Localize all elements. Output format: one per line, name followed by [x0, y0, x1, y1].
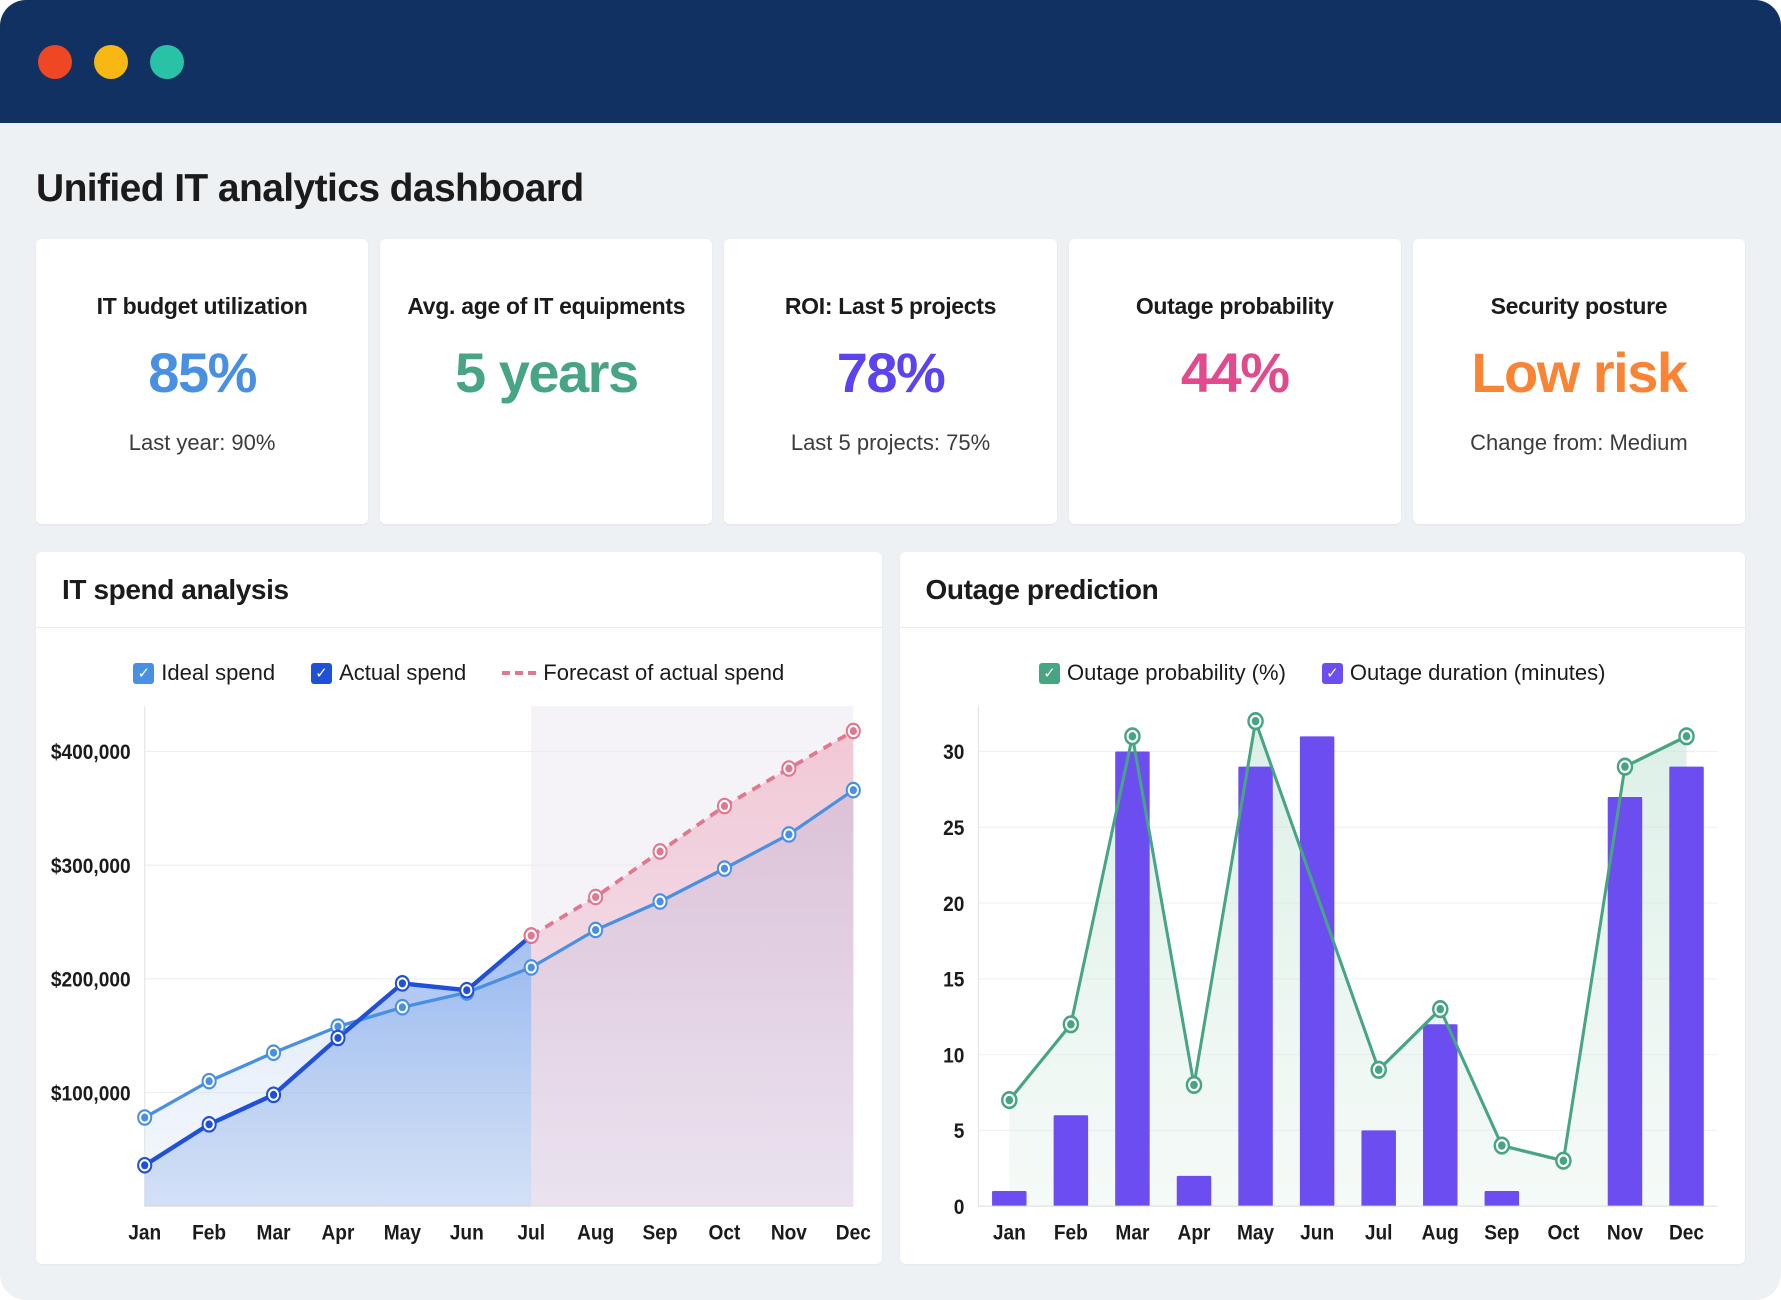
dashed-line-icon: [502, 671, 536, 675]
kpi-title: Avg. age of IT equipments: [390, 293, 702, 320]
svg-text:10: 10: [943, 1045, 964, 1068]
kpi-title: Outage probability: [1079, 293, 1391, 320]
legend-item-outage-duration[interactable]: ✓ Outage duration (minutes): [1322, 660, 1606, 686]
svg-text:$100,000: $100,000: [51, 1082, 131, 1105]
svg-text:Nov: Nov: [771, 1222, 808, 1245]
svg-text:25: 25: [943, 817, 964, 840]
checkbox-icon[interactable]: ✓: [1322, 663, 1343, 684]
legend-label: Ideal spend: [161, 660, 275, 686]
svg-text:Oct: Oct: [1547, 1222, 1579, 1245]
it-spend-plot[interactable]: $100,000$200,000$300,000$400,000JanFebMa…: [36, 686, 882, 1264]
dashboard-body: Unified IT analytics dashboard IT budget…: [0, 123, 1781, 1264]
kpi-value: 85%: [46, 342, 358, 404]
legend-item-actual-spend[interactable]: ✓ Actual spend: [311, 660, 466, 686]
maximize-button[interactable]: [150, 45, 184, 79]
legend-item-ideal-spend[interactable]: ✓ Ideal spend: [133, 660, 275, 686]
svg-text:$300,000: $300,000: [51, 855, 131, 878]
kpi-card-equipment-age[interactable]: Avg. age of IT equipments 5 years: [380, 239, 712, 524]
kpi-title: Security posture: [1423, 293, 1735, 320]
chart-header: Outage prediction: [900, 552, 1746, 628]
kpi-card-security-posture[interactable]: Security posture Low risk Change from: M…: [1413, 239, 1745, 524]
svg-text:Nov: Nov: [1606, 1222, 1643, 1245]
checkbox-icon[interactable]: ✓: [1039, 663, 1060, 684]
kpi-subtext: Last 5 projects: 75%: [734, 430, 1046, 456]
svg-text:May: May: [1236, 1222, 1274, 1245]
svg-text:Jul: Jul: [517, 1222, 545, 1245]
svg-text:Jun: Jun: [1300, 1222, 1334, 1245]
page-title: Unified IT analytics dashboard: [36, 167, 1745, 211]
spend-legend: ✓ Ideal spend ✓ Actual spend Forecast of…: [36, 628, 882, 686]
svg-text:Oct: Oct: [709, 1222, 741, 1245]
svg-text:Apr: Apr: [322, 1222, 355, 1245]
legend-label: Actual spend: [339, 660, 466, 686]
kpi-value: 44%: [1079, 342, 1391, 404]
kpi-value: 5 years: [390, 342, 702, 404]
chart-card-it-spend: IT spend analysis ✓ Ideal spend ✓ Actual…: [36, 552, 882, 1264]
svg-text:Sep: Sep: [643, 1222, 678, 1245]
svg-text:20: 20: [943, 893, 964, 916]
svg-text:0: 0: [953, 1196, 964, 1219]
chart-card-outage-prediction: Outage prediction ✓ Outage probability (…: [900, 552, 1746, 1264]
svg-text:Jun: Jun: [450, 1222, 484, 1245]
minimize-button[interactable]: [94, 45, 128, 79]
svg-text:Dec: Dec: [836, 1222, 871, 1245]
kpi-row: IT budget utilization 85% Last year: 90%…: [36, 239, 1745, 524]
outage-legend: ✓ Outage probability (%) ✓ Outage durati…: [900, 628, 1746, 686]
chart-header: IT spend analysis: [36, 552, 882, 628]
svg-text:Jul: Jul: [1364, 1222, 1392, 1245]
svg-text:30: 30: [943, 741, 964, 764]
chart-title: IT spend analysis: [62, 574, 289, 606]
chart-row: IT spend analysis ✓ Ideal spend ✓ Actual…: [36, 552, 1745, 1264]
legend-item-forecast[interactable]: Forecast of actual spend: [502, 660, 784, 686]
kpi-value: Low risk: [1423, 342, 1735, 404]
kpi-card-outage-probability[interactable]: Outage probability 44%: [1069, 239, 1401, 524]
legend-item-outage-probability[interactable]: ✓ Outage probability (%): [1039, 660, 1286, 686]
checkbox-icon[interactable]: ✓: [133, 663, 154, 684]
svg-text:5: 5: [953, 1120, 964, 1143]
window-titlebar: [0, 0, 1781, 123]
kpi-value: 78%: [734, 342, 1046, 404]
svg-text:Mar: Mar: [257, 1222, 291, 1245]
svg-text:Feb: Feb: [1053, 1222, 1087, 1245]
kpi-title: IT budget utilization: [46, 293, 358, 320]
kpi-subtext: Change from: Medium: [1423, 430, 1735, 456]
checkbox-icon[interactable]: ✓: [311, 663, 332, 684]
svg-text:Mar: Mar: [1115, 1222, 1149, 1245]
svg-text:Aug: Aug: [1421, 1222, 1458, 1245]
svg-text:15: 15: [943, 969, 964, 992]
svg-text:$200,000: $200,000: [51, 969, 131, 992]
svg-text:Jan: Jan: [992, 1222, 1025, 1245]
app-window: Unified IT analytics dashboard IT budget…: [0, 0, 1781, 1300]
svg-text:Feb: Feb: [192, 1222, 226, 1245]
legend-label: Forecast of actual spend: [543, 660, 784, 686]
svg-text:May: May: [384, 1222, 422, 1245]
kpi-card-budget-utilization[interactable]: IT budget utilization 85% Last year: 90%: [36, 239, 368, 524]
svg-text:Sep: Sep: [1484, 1222, 1519, 1245]
svg-text:$400,000: $400,000: [51, 741, 131, 764]
chart-title: Outage prediction: [926, 574, 1159, 606]
kpi-title: ROI: Last 5 projects: [734, 293, 1046, 320]
svg-text:Aug: Aug: [577, 1222, 614, 1245]
outage-plot[interactable]: 051015202530JanFebMarAprMayJunJulAugSepO…: [900, 686, 1746, 1264]
legend-label: Outage probability (%): [1067, 660, 1286, 686]
svg-text:Dec: Dec: [1669, 1222, 1704, 1245]
svg-text:Jan: Jan: [128, 1222, 161, 1245]
close-button[interactable]: [38, 45, 72, 79]
kpi-card-roi[interactable]: ROI: Last 5 projects 78% Last 5 projects…: [724, 239, 1056, 524]
legend-label: Outage duration (minutes): [1350, 660, 1606, 686]
kpi-subtext: Last year: 90%: [46, 430, 358, 456]
svg-text:Apr: Apr: [1177, 1222, 1210, 1245]
